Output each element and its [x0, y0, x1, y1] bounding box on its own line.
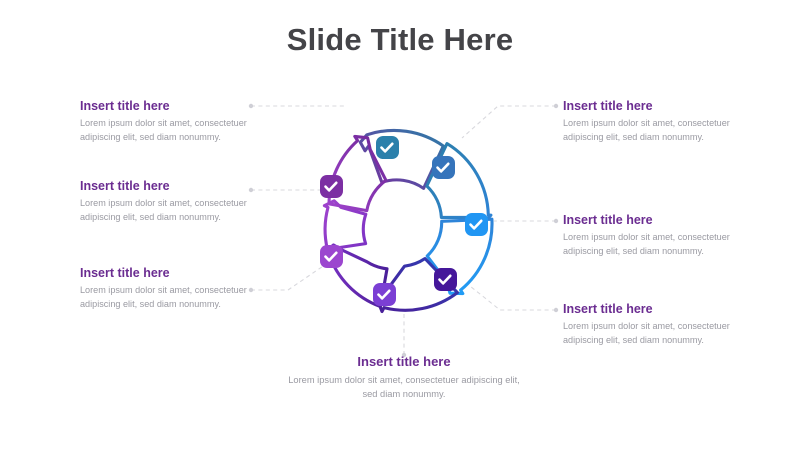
- badge-right: [465, 213, 488, 236]
- badge-bottom: [373, 283, 396, 306]
- text-block-right-2: Insert title here Lorem ipsum dolor sit …: [563, 213, 731, 259]
- page-title: Slide Title Here: [0, 22, 800, 58]
- segment-top-right-shape: [427, 144, 491, 225]
- badge-bottom-right: [434, 268, 457, 291]
- block-body: Lorem ipsum dolor sit amet, consectetuer…: [80, 197, 248, 225]
- text-block-left-1: Insert title here Lorem ipsum dolor sit …: [80, 99, 248, 145]
- block-title: Insert title here: [563, 213, 731, 228]
- text-block-bottom-1: Insert title here Lorem ipsum dolor sit …: [284, 354, 524, 401]
- block-body: Lorem ipsum dolor sit amet, consectetuer…: [563, 320, 731, 348]
- text-block-right-1: Insert title here Lorem ipsum dolor sit …: [563, 99, 731, 145]
- block-body: Lorem ipsum dolor sit amet, consectetuer…: [284, 373, 524, 401]
- block-body: Lorem ipsum dolor sit amet, consectetuer…: [563, 117, 731, 145]
- badge-top-left: [376, 136, 399, 159]
- block-body: Lorem ipsum dolor sit amet, consectetuer…: [80, 284, 248, 312]
- block-body: Lorem ipsum dolor sit amet, consectetuer…: [563, 231, 731, 259]
- block-title: Insert title here: [563, 302, 731, 317]
- block-title: Insert title here: [80, 179, 248, 194]
- block-title: Insert title here: [563, 99, 731, 114]
- text-block-right-3: Insert title here Lorem ipsum dolor sit …: [563, 302, 731, 348]
- block-title: Insert title here: [284, 354, 524, 370]
- block-title: Insert title here: [80, 266, 248, 281]
- badge-bottom-left: [320, 245, 343, 268]
- text-block-left-2: Insert title here Lorem ipsum dolor sit …: [80, 179, 248, 225]
- slide-canvas: Slide Title Here Insert title here Lorem…: [0, 0, 800, 450]
- block-title: Insert title here: [80, 99, 248, 114]
- block-body: Lorem ipsum dolor sit amet, consectetuer…: [80, 117, 248, 145]
- text-block-left-3: Insert title here Lorem ipsum dolor sit …: [80, 266, 248, 312]
- badge-top-right: [432, 156, 455, 179]
- badge-left: [320, 175, 343, 198]
